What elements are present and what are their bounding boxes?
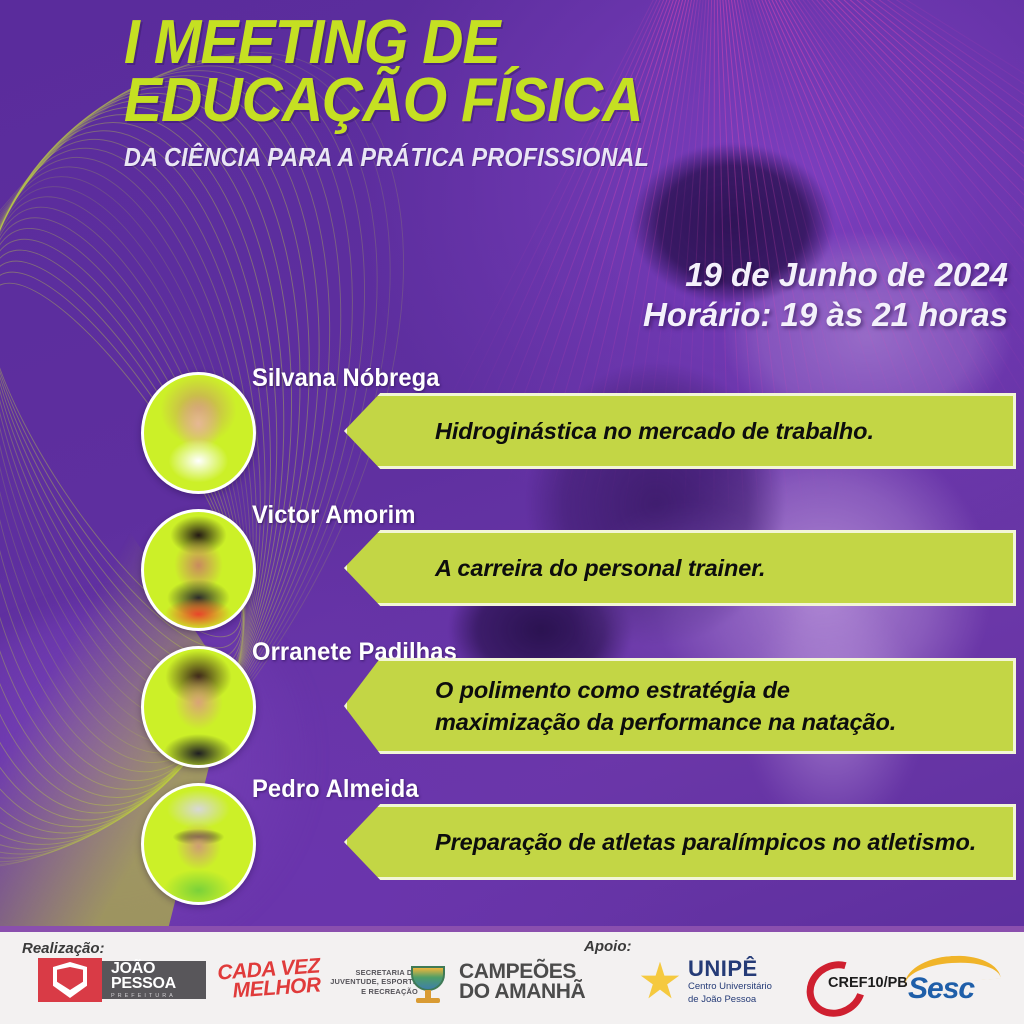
coat-of-arms-icon: [38, 958, 102, 1002]
speaker-name: Silvana Nóbrega: [252, 364, 440, 393]
sponsor-logos: JOÃO PESSOA PREFEITURA CADA VEZ MELHOR S…: [0, 932, 1024, 1024]
speaker-portrait: [144, 375, 253, 491]
avatar: [141, 783, 256, 905]
campeoes-wordmark: CAMPEÕES DO AMANHÃ: [459, 962, 585, 1002]
speaker-portrait: [144, 649, 253, 765]
speaker-row: Silvana Nóbrega Hidroginástica no mercad…: [0, 362, 1024, 499]
unipe-wordmark: UNIPÊ Centro Universitário de João Pesso…: [688, 958, 772, 1005]
campeoes-line-2: DO AMANHÃ: [459, 982, 585, 1002]
star-icon: [638, 960, 682, 1004]
speaker-row: Pedro Almeida Preparação de atletas para…: [0, 773, 1024, 910]
avatar: [141, 509, 256, 631]
unipe-logo: UNIPÊ Centro Universitário de João Pesso…: [638, 958, 772, 1005]
event-datetime-block: 19 de Junho de 2024 Horário: 19 às 21 ho…: [643, 255, 1008, 336]
event-time: Horário: 19 às 21 horas: [643, 295, 1008, 335]
topic-text: O polimento como estratégia de maximizaç…: [435, 674, 896, 739]
footer-sponsors-bar: Realização: Apoio: JOÃO PESSOA PREFEITUR…: [0, 932, 1024, 1024]
unipe-line-2: de João Pessoa: [688, 994, 772, 1006]
campeoes-line-1: CAMPEÕES: [459, 962, 585, 982]
joao-pessoa-line-3: PREFEITURA: [111, 993, 206, 999]
speaker-name: Pedro Almeida: [252, 775, 419, 804]
poster-title-block: I MEETING DE EDUCAÇÃO FÍSICA DA CIÊNCIA …: [124, 14, 744, 173]
title-line-2: EDUCAÇÃO FÍSICA: [124, 72, 694, 130]
avatar: [141, 372, 256, 494]
speaker-portrait: [144, 512, 253, 628]
speaker-row: Victor Amorim A carreira do personal tra…: [0, 499, 1024, 636]
campeoes-do-amanha-logo: CAMPEÕES DO AMANHÃ: [404, 958, 585, 1006]
unipe-name: UNIPÊ: [688, 958, 772, 980]
speaker-portrait: [144, 786, 253, 902]
sesc-label: Sesc: [908, 972, 974, 1006]
cada-vez-melhor-logo: CADA VEZ MELHOR: [217, 956, 322, 1002]
topic-banner: A carreira do personal trainer.: [344, 530, 1016, 606]
cref-logo: CREF10/PB: [806, 962, 872, 1002]
secretaria-logo: SECRETARIA DA JUVENTUDE, ESPORTE E RECRE…: [310, 968, 418, 996]
topic-banner: Preparação de atletas paralímpicos no at…: [344, 804, 1016, 880]
topic-banner: Hidroginástica no mercado de trabalho.: [344, 393, 1016, 469]
joao-pessoa-logo: JOÃO PESSOA PREFEITURA: [38, 958, 206, 1002]
poster-subtitle: DA CIÊNCIA PARA A PRÁTICA PROFISSIONAL: [124, 142, 682, 173]
avatar: [141, 646, 256, 768]
topic-text: Preparação de atletas paralímpicos no at…: [435, 826, 976, 858]
speakers-list: Silvana Nóbrega Hidroginástica no mercad…: [0, 362, 1024, 910]
topic-text-line: maximização da performance na natação.: [435, 706, 896, 738]
cref-label: CREF10/PB: [828, 975, 908, 991]
joao-pessoa-line-2: PESSOA: [111, 976, 206, 991]
joao-pessoa-line-1: JOÃO: [111, 961, 206, 976]
topic-text: A carreira do personal trainer.: [435, 552, 765, 584]
event-poster: I MEETING DE EDUCAÇÃO FÍSICA DA CIÊNCIA …: [0, 0, 1024, 1024]
cada-vez-melhor-line-2: MELHOR: [232, 976, 321, 1001]
topic-banner: O polimento como estratégia de maximizaç…: [344, 658, 1016, 754]
topic-text-line: O polimento como estratégia de: [435, 674, 896, 706]
unipe-line-1: Centro Universitário: [688, 981, 772, 993]
speaker-row: Orranete Padilhas O polimento como estra…: [0, 636, 1024, 773]
trophy-icon: [404, 958, 452, 1006]
joao-pessoa-wordmark: JOÃO PESSOA PREFEITURA: [102, 961, 206, 999]
topic-text: Hidroginástica no mercado de trabalho.: [435, 415, 874, 447]
event-date: 19 de Junho de 2024: [643, 255, 1008, 295]
title-line-1: I MEETING DE: [124, 14, 694, 72]
speaker-name: Victor Amorim: [252, 501, 416, 530]
